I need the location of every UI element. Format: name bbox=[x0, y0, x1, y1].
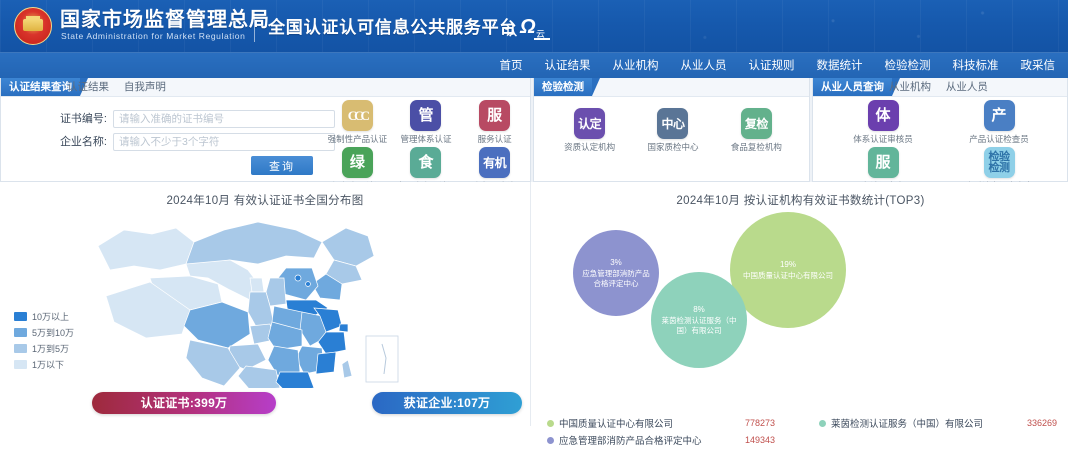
bubble-percent: 19% bbox=[743, 260, 833, 270]
nav-item-home[interactable]: 首页 bbox=[489, 53, 534, 79]
chart-map-distribution: 2024年10月 有效认证证书全国分布图 bbox=[0, 182, 531, 426]
icon-tile-service-cert[interactable]: 服 服务认证 bbox=[460, 100, 529, 145]
icon-tile-management-system[interactable]: 管 管理体系认证 bbox=[392, 100, 461, 145]
bubble-name: 中国质量认证中心有限公司 bbox=[743, 271, 833, 280]
nav-item-cert-results[interactable]: 认证结果 bbox=[534, 53, 602, 79]
tab-self-declaration[interactable]: 自我声明 bbox=[124, 81, 166, 93]
stat-pill-certificates: 认证证书:399万 bbox=[92, 392, 276, 414]
bubble-percent: 8% bbox=[657, 305, 741, 315]
chan-icon: 产 bbox=[984, 100, 1015, 131]
bubble-percent: 3% bbox=[579, 258, 653, 268]
icon-label-product-inspector: 产品认证检查员 bbox=[941, 133, 1057, 145]
nav-item-tech-standards[interactable]: 科技标准 bbox=[942, 53, 1010, 79]
legend-swatch bbox=[14, 328, 27, 337]
national-emblem-icon bbox=[14, 7, 52, 45]
stat-pill-companies: 获证企业:107万 bbox=[372, 392, 522, 414]
jianyanjiance-icon: 检验检测 bbox=[984, 147, 1015, 178]
nav-item-personnel[interactable]: 从业人员 bbox=[670, 53, 738, 79]
icon-tile-system-auditor[interactable]: 体 体系认证审核员 bbox=[825, 100, 941, 145]
tab-staff-personnel[interactable]: 从业人员 bbox=[946, 81, 988, 93]
legend-label: 10万以上 bbox=[32, 310, 69, 323]
legend-label: 1万到5万 bbox=[32, 342, 69, 355]
fu-staff-icon: 服 bbox=[868, 147, 899, 178]
bubble-name: 应急管理部消防产品合格评定中心 bbox=[582, 269, 650, 288]
icon-label-management-system: 管理体系认证 bbox=[392, 133, 461, 145]
organization-name-en: State Administration for Market Regulati… bbox=[61, 31, 245, 41]
legend-label: 莱茵检测认证服务（中国）有限公司 bbox=[831, 416, 1027, 430]
icon-label-ccc: 强制性产品认证 bbox=[323, 133, 392, 145]
panel-staff-tabbar: 从业人员查询 从业机构 从业人员 bbox=[813, 78, 1067, 97]
nav-item-inspection[interactable]: 检验检测 bbox=[874, 53, 942, 79]
organization-name-cn: 国家市场监督管理总局 bbox=[60, 9, 270, 31]
certificate-query-form: 证书编号: 企业名称: 查询 bbox=[1, 100, 321, 178]
legend-value: 149343 bbox=[745, 435, 775, 445]
tab-cert-result[interactable]: 认证结果 bbox=[67, 81, 109, 93]
map-legend: 10万以上 5万到10万 1万到5万 1万以下 bbox=[14, 310, 74, 374]
cert-icon-grid: CCC 强制性产品认证 管 管理体系认证 服 服务认证 绿 绿色产品认证 食 bbox=[323, 100, 529, 192]
company-name-input[interactable] bbox=[113, 133, 335, 151]
logo-underline bbox=[534, 38, 550, 40]
label-company-name: 企业名称: bbox=[49, 133, 107, 151]
legend-label: 5万到10万 bbox=[32, 326, 74, 339]
legend-label: 中国质量认证中心有限公司 bbox=[559, 416, 745, 430]
lv-icon: 绿 bbox=[342, 147, 373, 178]
tab-staff-organizations[interactable]: 从业机构 bbox=[889, 81, 931, 93]
nav-item-organizations[interactable]: 从业机构 bbox=[602, 53, 670, 79]
legend-item: 1万到5万 bbox=[14, 342, 74, 355]
legend-item: 中国质量认证中心有限公司 778273 bbox=[547, 416, 797, 430]
page-root: 国家市场监督管理总局 State Administration for Mark… bbox=[0, 0, 1068, 426]
legend-label: 1万以下 bbox=[32, 358, 64, 371]
bubble-chart-title: 2024年10月 按认证机构有效证书数统计(TOP3) bbox=[533, 192, 1068, 208]
site-header: 国家市场监督管理总局 State Administration for Mark… bbox=[0, 0, 1068, 52]
nav-item-statistics[interactable]: 数据统计 bbox=[806, 53, 874, 79]
query-button[interactable]: 查询 bbox=[251, 156, 313, 175]
panel-certificate-query: 认证结果查询 认证结果 自我声明 证书编号: 企业名称: 查询 bbox=[0, 78, 531, 182]
icon-tile-national-qc-center[interactable]: 中心 国家质检中心 bbox=[631, 108, 714, 153]
icon-tile-ccc[interactable]: CCC 强制性产品认证 bbox=[323, 100, 392, 145]
search-panels-row: 认证结果查询 认证结果 自我声明 证书编号: 企业名称: 查询 bbox=[0, 78, 1068, 182]
panel-staff-subtabs: 从业机构 从业人员 bbox=[889, 78, 1000, 96]
bubble-tuv-rheinland[interactable]: 8% 莱茵检测认证服务（中国）有限公司 bbox=[651, 272, 747, 368]
panel-cert-tabbar: 认证结果查询 认证结果 自我声明 bbox=[1, 78, 530, 97]
chart-bubble-top3: 2024年10月 按认证机构有效证书数统计(TOP3) 3% 应急管理部消防产品… bbox=[533, 182, 1068, 426]
platform-title: 全国认证认可信息公共服务平台 bbox=[268, 13, 517, 38]
icon-label-service-cert: 服务认证 bbox=[460, 133, 529, 145]
icon-label-accreditation-body: 资质认定机构 bbox=[548, 141, 631, 153]
legend-swatch bbox=[14, 344, 27, 353]
legend-item: 10万以上 bbox=[14, 310, 74, 323]
tab-personnel-query[interactable]: 从业人员查询 bbox=[813, 78, 892, 96]
header-divider bbox=[254, 10, 255, 42]
youji-icon: 有机 bbox=[479, 147, 510, 178]
legend-dot bbox=[819, 420, 826, 427]
icon-tile-accreditation-body[interactable]: 认定 资质认定机构 bbox=[548, 108, 631, 153]
cert-number-input[interactable] bbox=[113, 110, 335, 128]
legend-dot bbox=[547, 420, 554, 427]
legend-swatch bbox=[14, 360, 27, 369]
legend-label: 应急管理部消防产品合格评定中心 bbox=[559, 433, 745, 447]
icon-tile-product-inspector[interactable]: 产 产品认证检查员 bbox=[941, 100, 1057, 145]
panel-inspection-tabbar: 检验检测 bbox=[534, 78, 809, 97]
icon-label-system-auditor: 体系认证审核员 bbox=[825, 133, 941, 145]
icon-label-national-qc-center: 国家质检中心 bbox=[631, 141, 714, 153]
legend-item: 5万到10万 bbox=[14, 326, 74, 339]
charts-row: 2024年10月 有效认证证书全国分布图 bbox=[0, 182, 1068, 426]
bubble-legend-col-1: 中国质量认证中心有限公司 778273 应急管理部消防产品合格评定中心 1493… bbox=[547, 416, 797, 450]
bubble-name: 莱茵检测认证服务（中国）有限公司 bbox=[662, 316, 737, 335]
logo-char-ren: 认 bbox=[505, 22, 517, 39]
legend-item: 莱茵检测认证服务（中国）有限公司 336269 bbox=[819, 416, 1068, 430]
china-map bbox=[90, 208, 420, 388]
bubble-emergency-fire[interactable]: 3% 应急管理部消防产品合格评定中心 bbox=[573, 230, 659, 316]
guan-icon: 管 bbox=[410, 100, 441, 131]
legend-dot bbox=[547, 437, 554, 444]
label-cert-number: 证书编号: bbox=[49, 110, 107, 128]
legend-item: 应急管理部消防产品合格评定中心 149343 bbox=[547, 433, 797, 447]
main-navigation: 首页 认证结果 从业机构 从业人员 认证规则 数据统计 检验检测 科技标准 政采… bbox=[0, 52, 1068, 78]
ccc-icon: CCC bbox=[342, 100, 373, 131]
nav-item-procurement[interactable]: 政采信 bbox=[1010, 53, 1067, 79]
staff-icon-grid: 体 体系认证审核员 产 产品认证检查员 服 服务认证审查员 检验检测 资质认定评… bbox=[825, 100, 1057, 192]
ti-icon: 体 bbox=[868, 100, 899, 131]
fu-icon: 服 bbox=[479, 100, 510, 131]
legend-swatch bbox=[14, 312, 27, 321]
inspection-icon-grid: 认定 资质认定机构 中心 国家质检中心 复检 食品复检机构 bbox=[548, 108, 798, 153]
zhongxin-icon: 中心 bbox=[657, 108, 688, 139]
legend-value: 336269 bbox=[1027, 418, 1057, 428]
legend-value: 778273 bbox=[745, 418, 775, 428]
rending-icon: 认定 bbox=[574, 108, 605, 139]
legend-item: 1万以下 bbox=[14, 358, 74, 371]
china-map-svg bbox=[90, 208, 420, 388]
icon-tile-food-reinspection[interactable]: 复检 食品复检机构 bbox=[715, 108, 798, 153]
bubble-cqc[interactable]: 19% 中国质量认证中心有限公司 bbox=[730, 212, 846, 328]
panel-personnel-query: 从业人员查询 从业机构 从业人员 体 体系认证审核员 产 产品认证检查员 服 服… bbox=[812, 78, 1068, 182]
bubble-legend-col-2: 莱茵检测认证服务（中国）有限公司 336269 bbox=[819, 416, 1068, 433]
renyun-logo-icon: 认 Ω 云 bbox=[505, 14, 551, 42]
panel-inspection: 检验检测 认定 资质认定机构 中心 国家质检中心 复检 食品复检机构 bbox=[533, 78, 810, 182]
nav-item-cert-rules[interactable]: 认证规则 bbox=[738, 53, 806, 79]
logo-char-omega: Ω bbox=[520, 16, 536, 39]
icon-label-food-reinspection: 食品复检机构 bbox=[715, 141, 798, 153]
fujian-icon: 复检 bbox=[741, 108, 772, 139]
bubble-plot-area: 3% 应急管理部消防产品合格评定中心 19% 中国质量认证中心有限公司 8% 莱… bbox=[533, 210, 1068, 370]
tab-inspection[interactable]: 检验检测 bbox=[534, 78, 592, 96]
map-chart-title: 2024年10月 有效认证证书全国分布图 bbox=[0, 192, 530, 208]
panel-cert-subtabs: 认证结果 自我声明 bbox=[67, 78, 178, 96]
shi-icon: 食 bbox=[410, 147, 441, 178]
